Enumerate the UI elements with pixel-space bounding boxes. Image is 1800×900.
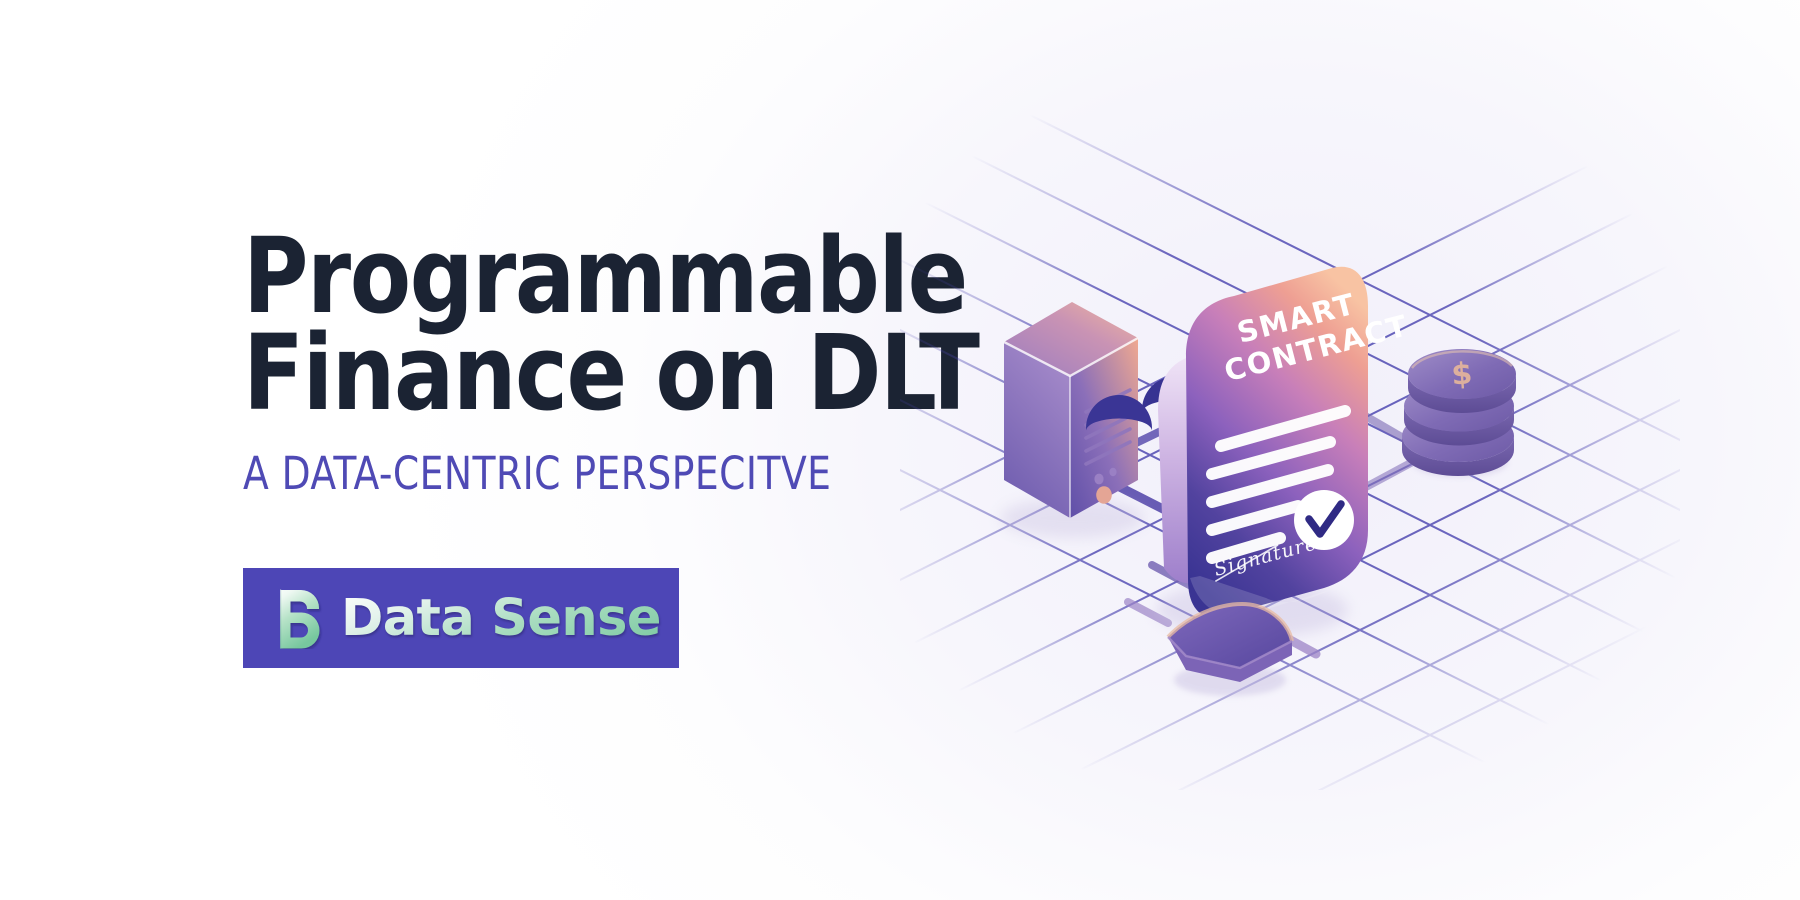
brand-logo-badge[interactable]: Data Sense — [243, 568, 679, 668]
check-circle-icon — [1294, 490, 1354, 550]
promo-banner: Programmable Finance on DLT A DATA-CENTR… — [0, 0, 1800, 900]
coin-dollar-symbol: $ — [1450, 356, 1473, 392]
data-sense-b-mark-icon — [267, 587, 325, 649]
page-title-line-2: Finance on DLT — [243, 325, 912, 422]
server-icon — [1000, 302, 1144, 538]
page-title-line-1: Programmable — [243, 228, 912, 325]
headline-group: Programmable Finance on DLT A DATA-CENTR… — [243, 228, 943, 496]
brand-wordmark: Data Sense — [341, 593, 661, 644]
page-subtitle: A DATA-CENTRIC PERSPECITVE — [243, 451, 894, 496]
isometric-dlt-illustration: SMART CONTRACT Signature — [900, 110, 1680, 790]
page-title: Programmable Finance on DLT — [243, 228, 912, 421]
coin-stack-icon: $ — [1402, 349, 1516, 477]
document-icon: SMART CONTRACT Signature — [1156, 267, 1412, 638]
